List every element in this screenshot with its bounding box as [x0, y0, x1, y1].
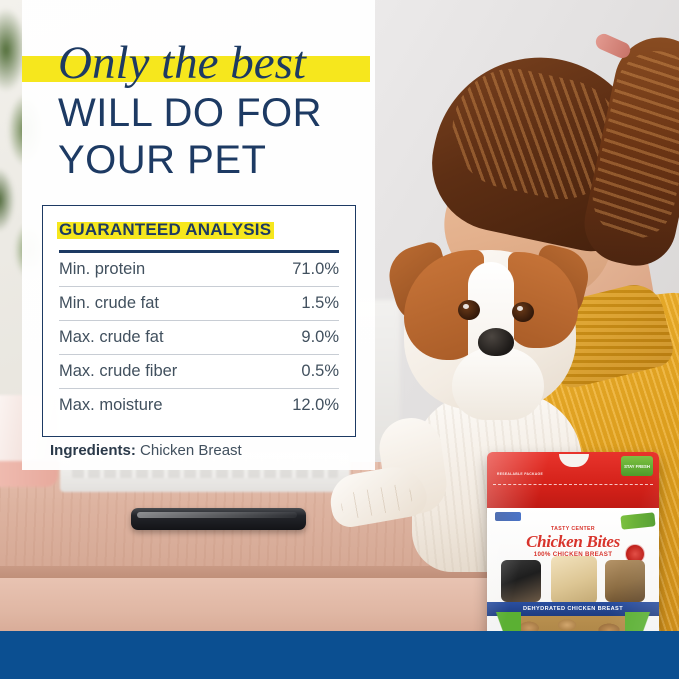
row-label: Min. crude fat: [59, 294, 159, 313]
row-label: Max. crude fat: [59, 328, 164, 347]
headline-line-3: YOUR PET: [58, 137, 382, 184]
package-dog-photo-3: [605, 560, 645, 602]
row-label: Max. moisture: [59, 396, 163, 415]
table-row: Max. moisture 12.0%: [59, 389, 339, 422]
headline-script-row: Only the best: [22, 36, 382, 90]
headline-line-2: WILL DO FOR: [58, 90, 382, 137]
dog-eye-left: [458, 300, 480, 320]
guaranteed-analysis-card: GUARANTEED ANALYSIS Min. protein 71.0% M…: [42, 205, 356, 437]
dog-muzzle: [452, 348, 544, 420]
headline-block: Only the best WILL DO FOR YOUR PET: [22, 36, 382, 184]
row-value: 12.0%: [292, 396, 339, 415]
row-value: 1.5%: [301, 294, 339, 313]
smartphone: [131, 508, 306, 530]
dog-nose: [478, 328, 514, 356]
package-dog-photo-2: [551, 556, 597, 604]
row-value: 0.5%: [301, 362, 339, 381]
ingredients-value: Chicken Breast: [140, 442, 242, 459]
dog-eye-right: [512, 302, 534, 322]
table-row: Min. protein 71.0%: [59, 253, 339, 287]
card-title-wrap: GUARANTEED ANALYSIS: [59, 218, 271, 242]
card-title: GUARANTEED ANALYSIS: [59, 218, 271, 242]
row-label: Max. crude fiber: [59, 362, 177, 381]
row-value: 71.0%: [292, 260, 339, 279]
ingredients-label: Ingredients:: [50, 442, 136, 459]
package-tag-left: [495, 512, 521, 521]
bottom-navy-bar: [0, 631, 679, 679]
table-row: Max. crude fiber 0.5%: [59, 355, 339, 389]
stay-fresh-tab: STAY FRESH: [621, 456, 653, 476]
marketing-image: Only the best WILL DO FOR YOUR PET GUARA…: [0, 0, 679, 679]
table-row: Max. crude fat 9.0%: [59, 321, 339, 355]
row-label: Min. protein: [59, 260, 145, 279]
desk-front: [0, 578, 520, 634]
package-dog-photo-1: [501, 560, 541, 602]
row-value: 9.0%: [301, 328, 339, 347]
headline-script: Only the best: [58, 36, 382, 90]
ingredients-line: Ingredients: Chicken Breast: [50, 442, 242, 459]
package-zip-line: [493, 484, 653, 485]
package-reseal-text: RESEALABLE PACKAGE: [497, 472, 543, 476]
table-row: Min. crude fat 1.5%: [59, 287, 339, 321]
